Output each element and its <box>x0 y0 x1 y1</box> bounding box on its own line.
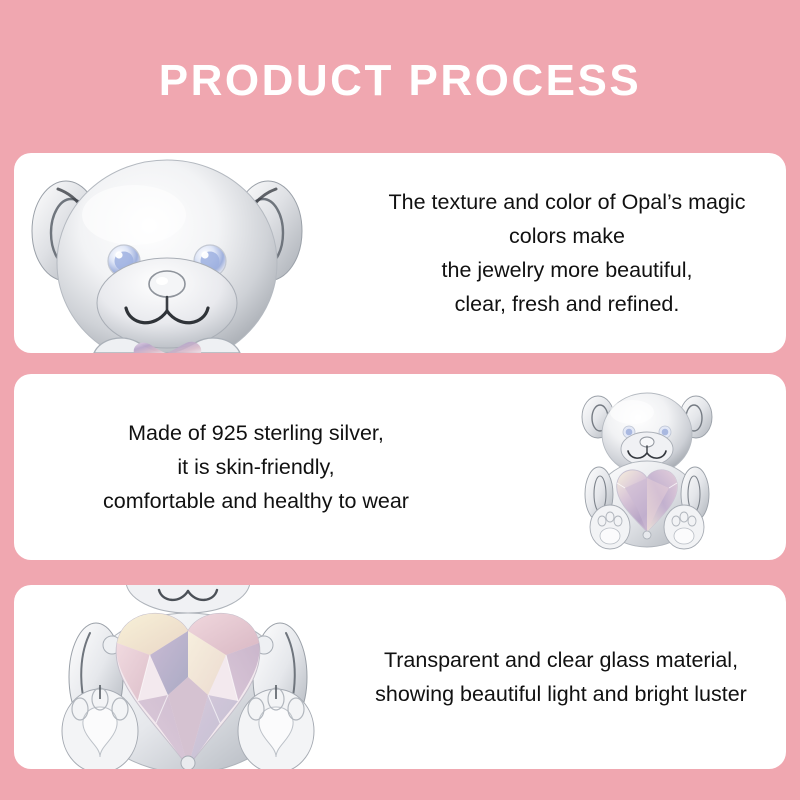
feature-panel-2: Made of 925 sterling silver, it is skin-… <box>14 374 786 560</box>
feature-text-2-line-3: comfortable and healthy to wear <box>46 484 466 518</box>
page-title: PRODUCT PROCESS <box>159 59 641 103</box>
teddy-bear-charm-heart-closeup-image <box>38 585 338 769</box>
feature-text-1-line-3: the jewelry more beautiful, <box>348 253 786 287</box>
feature-text-1: The texture and color of Opal’s magic co… <box>348 185 786 321</box>
feature-text-3: Transparent and clear glass material, sh… <box>336 643 786 711</box>
teddy-bear-charm-full-image <box>562 382 732 554</box>
feature-panel-3: Transparent and clear glass material, sh… <box>14 585 786 769</box>
bear-paw-left <box>590 505 630 549</box>
feature-text-1-line-2: colors make <box>348 219 786 253</box>
bear-paw-right <box>664 505 704 549</box>
bear-snout-partial <box>126 585 250 613</box>
feature-text-2: Made of 925 sterling silver, it is skin-… <box>46 416 466 518</box>
feature-text-2-line-1: Made of 925 sterling silver, <box>46 416 466 450</box>
teddy-bear-charm-head-closeup-image <box>14 153 334 353</box>
feature-text-3-line-1: Transparent and clear glass material, <box>336 643 786 677</box>
header-banner: PRODUCT PROCESS <box>0 0 800 153</box>
feature-text-3-line-2: showing beautiful light and bright luste… <box>336 677 786 711</box>
bear-snout-shape <box>97 258 237 348</box>
feature-text-1-line-1: The texture and color of Opal’s magic <box>348 185 786 219</box>
feature-text-2-line-2: it is skin-friendly, <box>46 450 466 484</box>
feature-panel-1: The texture and color of Opal’s magic co… <box>14 153 786 353</box>
feature-text-1-line-4: clear, fresh and refined. <box>348 287 786 321</box>
product-process-infographic: PRODUCT PROCESS <box>0 0 800 800</box>
